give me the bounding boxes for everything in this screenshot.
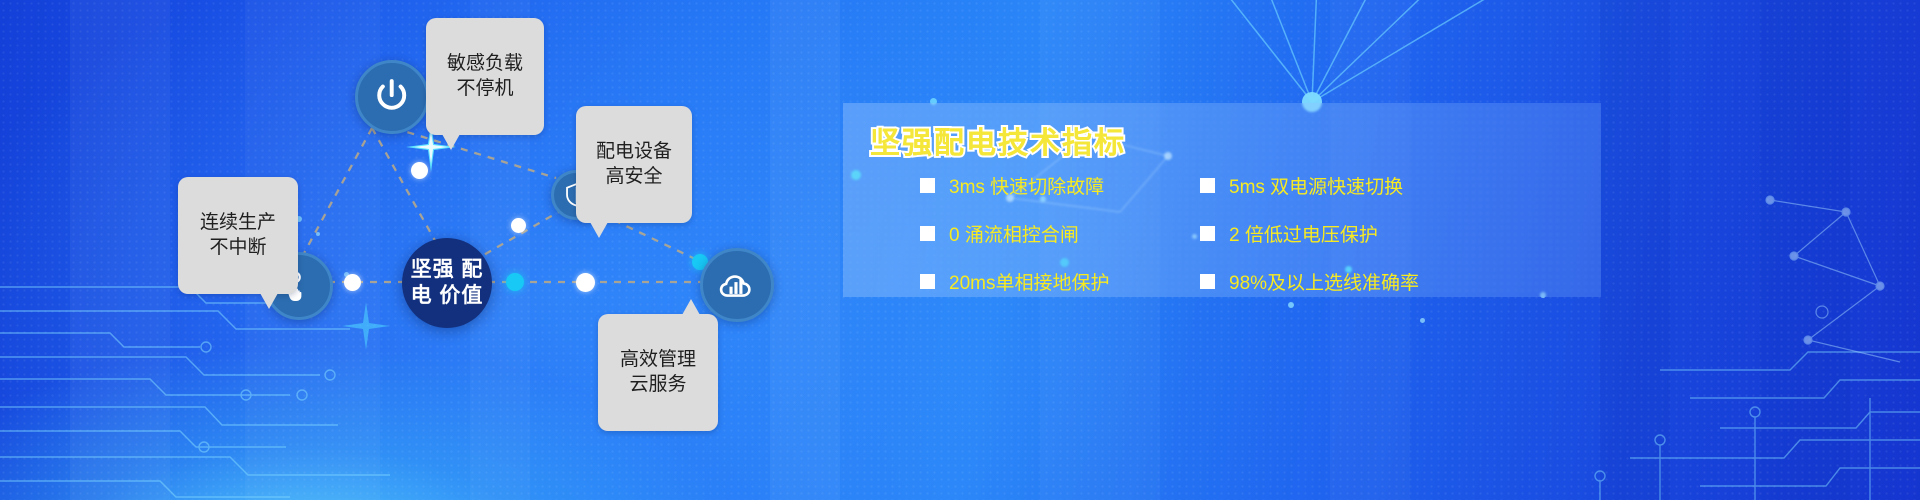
spec-item: 3ms 快速切除故障 (920, 172, 1200, 199)
connector-dot (506, 273, 524, 291)
connector-dot (344, 274, 361, 291)
connector-dot (511, 218, 526, 233)
spec-item: 20ms单相接地保护 (920, 268, 1200, 295)
bullet-square-icon (920, 274, 935, 289)
spec-item-label: 2 倍低过电压保护 (1229, 220, 1378, 247)
callout-text: 配电设备 高安全 (596, 141, 672, 186)
power-icon (372, 77, 411, 116)
node-cloud-chart[interactable] (700, 248, 774, 322)
callout-text: 连续生产 不中断 (200, 212, 276, 257)
callout-text: 高效管理 云服务 (620, 349, 696, 394)
bullet-square-icon (1200, 226, 1215, 241)
bullet-square-icon (1200, 178, 1215, 193)
callout-equipment-safety: 配电设备 高安全 (576, 106, 692, 223)
spec-item-label: 3ms 快速切除故障 (949, 172, 1104, 199)
spec-item: 0 涌流相控合闸 (920, 220, 1200, 247)
bubble-tail (682, 299, 700, 315)
sparkle-icon (340, 300, 392, 352)
node-power[interactable] (355, 60, 429, 134)
spec-item: 2 倍低过电压保护 (1200, 220, 1500, 247)
spec-item: 98%及以上选线准确率 (1200, 268, 1500, 295)
spec-item-label: 5ms 双电源快速切换 (1229, 172, 1403, 199)
spec-list: 3ms 快速切除故障 5ms 双电源快速切换 0 涌流相控合闸 2 倍低过电压保… (920, 172, 1580, 295)
bullet-square-icon (1200, 274, 1215, 289)
callout-cloud-service: 高效管理 云服务 (598, 314, 718, 431)
callout-sensitive-load: 敏感负载 不停机 (426, 18, 544, 135)
callout-text: 敏感负载 不停机 (447, 53, 523, 98)
banner-root: 坚强 配电 价值 敏感负载 不停机 配电设备 高安全 连续生产 不中断 高效管理… (0, 0, 1920, 500)
cloud-chart-icon (717, 265, 756, 304)
callout-continuous-production: 连续生产 不中断 (178, 177, 298, 294)
spec-panel-title: 坚强配电技术指标 (870, 118, 1126, 162)
bullet-square-icon (920, 226, 935, 241)
spec-item-label: 20ms单相接地保护 (949, 268, 1109, 295)
center-node-label: 坚强 配电 价值 (402, 257, 492, 308)
bullet-square-icon (920, 178, 935, 193)
bubble-tail (442, 134, 460, 150)
bubble-tail (590, 222, 608, 238)
connector-dot (576, 273, 595, 292)
bubble-tail (260, 293, 278, 309)
spec-item-label: 98%及以上选线准确率 (1229, 268, 1419, 295)
center-node: 坚强 配电 价值 (402, 238, 492, 328)
spec-item: 5ms 双电源快速切换 (1200, 172, 1500, 199)
spec-item-label: 0 涌流相控合闸 (949, 220, 1079, 247)
